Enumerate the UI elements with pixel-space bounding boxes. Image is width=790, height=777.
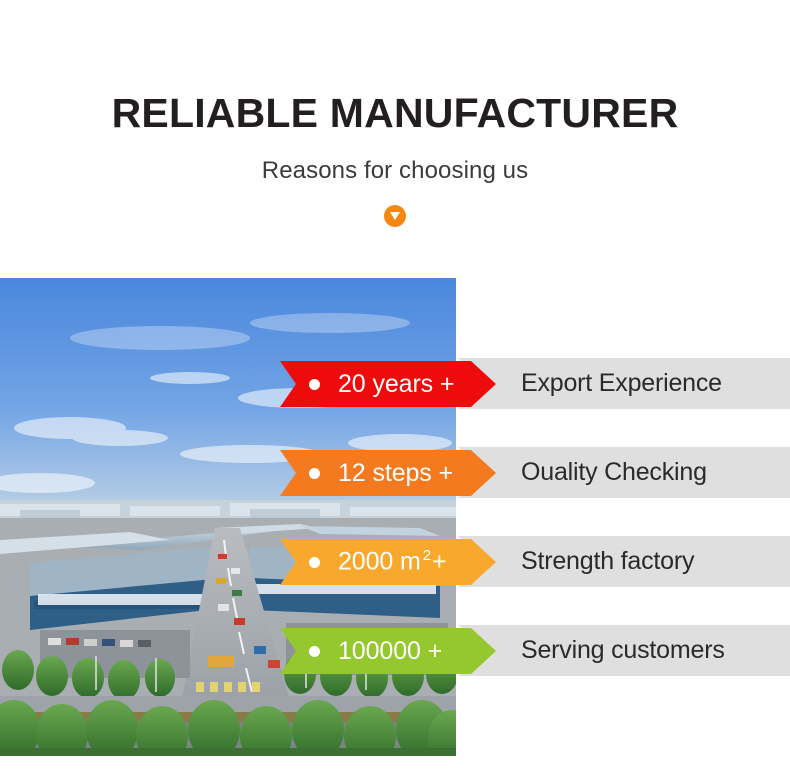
feature-label-text: Strength factory: [521, 547, 694, 576]
feature-value-tag[interactable]: 2000 m2+: [280, 539, 496, 585]
feature-label-text: Serving customers: [521, 636, 725, 665]
feature-value-superscript: 2: [421, 547, 432, 564]
bullet-dot-icon: [309, 468, 320, 479]
feature-label-plate: Export Experience: [458, 358, 790, 409]
chevron-down-icon: [390, 212, 400, 220]
feature-label-text: Export Experience: [521, 369, 722, 398]
feature-value-text: 12 steps +: [338, 459, 453, 488]
page-subtitle: Reasons for choosing us: [0, 135, 790, 185]
bullet-dot-icon: [309, 379, 320, 390]
feature-row: Serving customers 100000 +: [0, 625, 790, 676]
feature-row: Ouality Checking 12 steps +: [0, 447, 790, 498]
page-title: RELIABLE MANUFACTURER: [0, 0, 790, 135]
feature-label-text: Ouality Checking: [521, 458, 707, 487]
feature-value-text: 100000 +: [338, 637, 442, 666]
feature-value-text: 2000 m2+: [338, 547, 447, 576]
scroll-down-button[interactable]: [384, 205, 406, 227]
bullet-dot-icon: [309, 646, 320, 657]
feature-label-plate: Serving customers: [458, 625, 790, 676]
feature-list: Export Experience 20 years + Ouality Che…: [0, 278, 790, 758]
feature-value-prefix: 2000 m: [338, 548, 421, 576]
feature-label-plate: Strength factory: [458, 536, 790, 587]
feature-value-tag[interactable]: 20 years +: [280, 361, 496, 407]
feature-row: Strength factory 2000 m2+: [0, 536, 790, 587]
feature-value-suffix: +: [432, 548, 447, 576]
feature-value-tag[interactable]: 12 steps +: [280, 450, 496, 496]
feature-label-plate: Ouality Checking: [458, 447, 790, 498]
feature-value-text: 20 years +: [338, 370, 454, 399]
feature-value-tag[interactable]: 100000 +: [280, 628, 496, 674]
feature-row: Export Experience 20 years +: [0, 358, 790, 409]
page-header: RELIABLE MANUFACTURER Reasons for choosi…: [0, 0, 790, 227]
bullet-dot-icon: [309, 557, 320, 568]
